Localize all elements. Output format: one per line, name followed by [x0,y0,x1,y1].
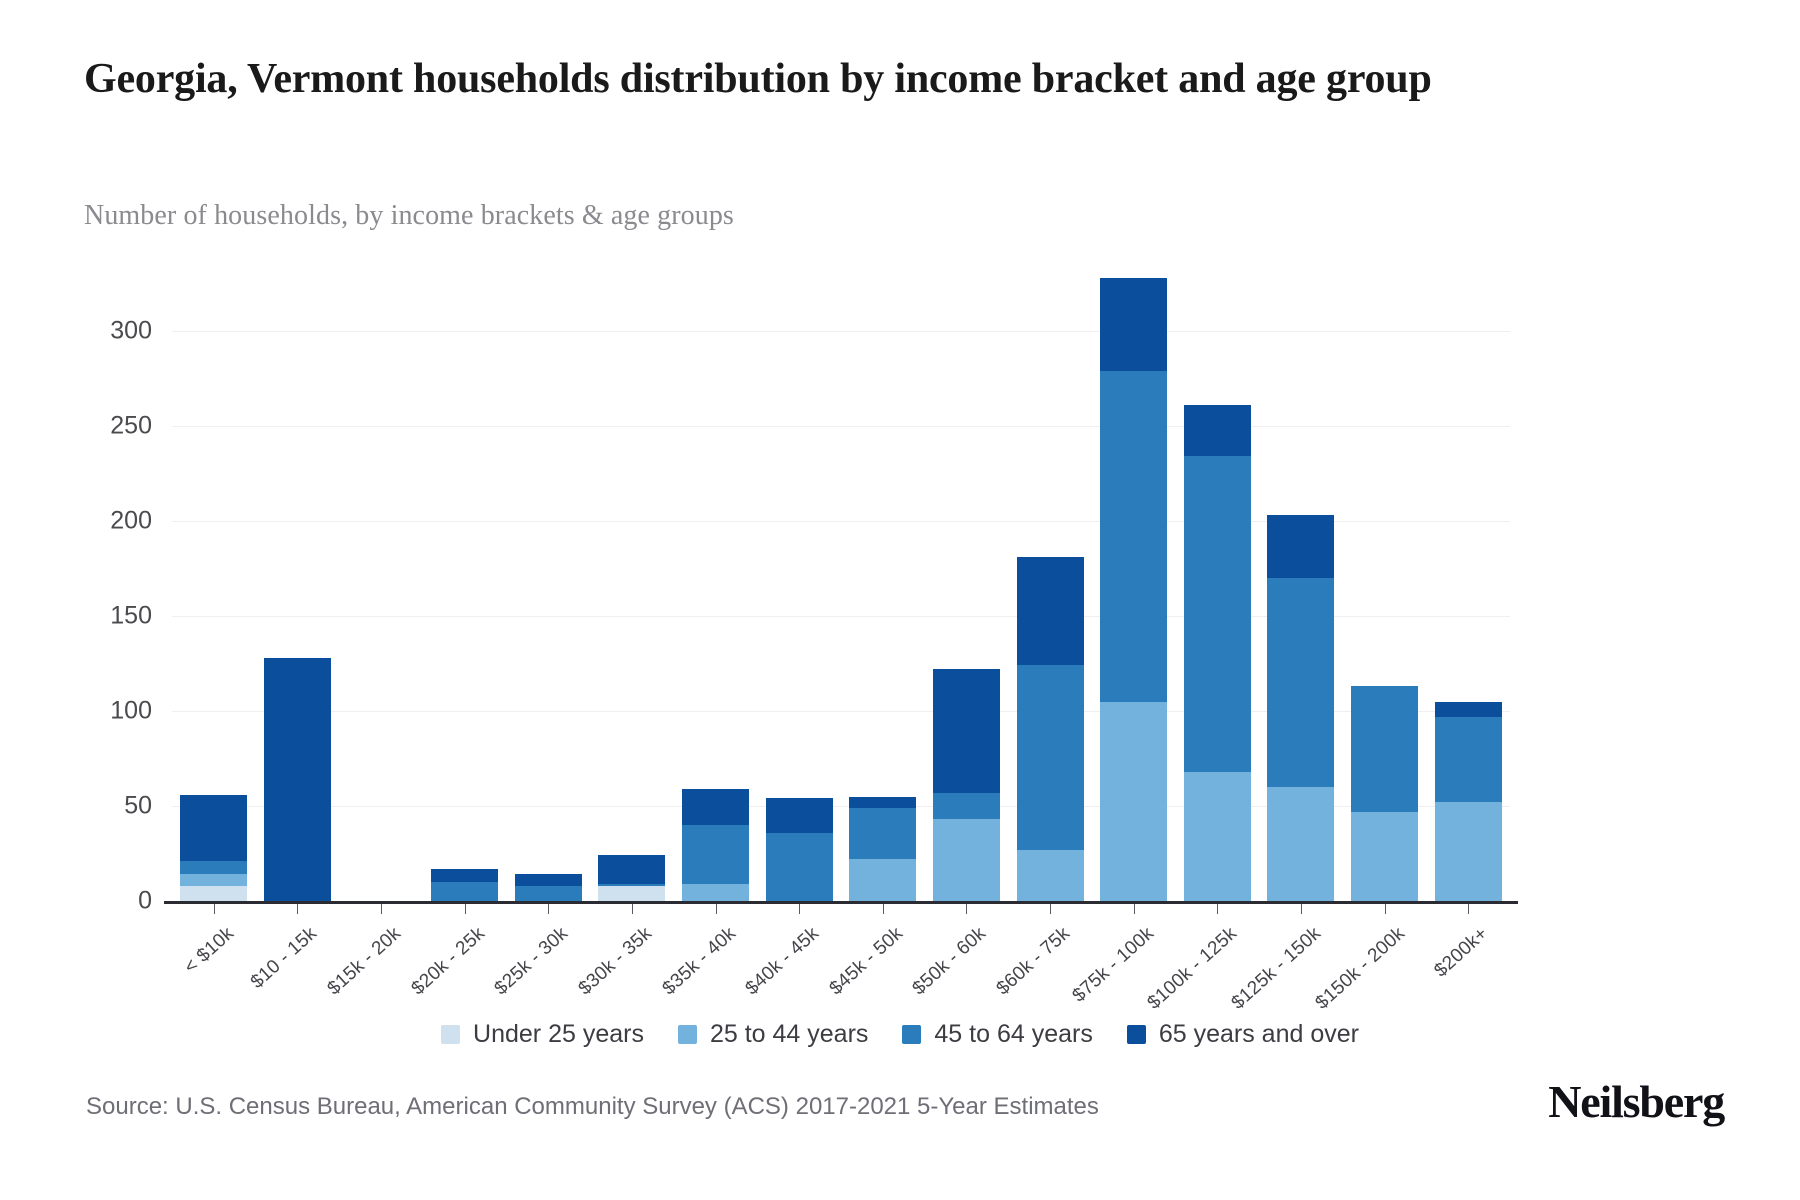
bar-stack[interactable] [682,789,749,901]
x-axis-tick-label: $50k - 60k [909,923,991,1000]
bar-segment[interactable] [1100,371,1167,702]
bar-segment[interactable] [515,886,582,901]
bar-segment[interactable] [1100,278,1167,371]
bar-segment[interactable] [180,795,247,862]
x-axis-tick [799,904,800,914]
x-axis-tick-label: $75k - 100k [1068,923,1158,1007]
y-axis-tick-label: 0 [138,887,152,916]
bar-stack[interactable] [933,669,1000,901]
legend-swatch-icon [902,1025,921,1044]
x-axis-tick-label: $125k - 150k [1228,923,1326,1014]
bar-segment[interactable] [849,808,916,859]
legend-item[interactable]: 65 years and over [1127,1020,1359,1049]
page-title: Georgia, Vermont households distribution… [84,52,1744,108]
legend-swatch-icon [441,1025,460,1044]
bar-stack[interactable] [1351,686,1418,901]
x-axis-line [164,901,1518,904]
bar-stack[interactable] [264,658,331,901]
bar-segment[interactable] [766,833,833,901]
bar-stack[interactable] [1017,557,1084,901]
x-axis-tick [966,904,967,914]
bar-segment[interactable] [933,793,1000,820]
bar-segment[interactable] [1267,578,1334,787]
bar-segment[interactable] [1017,850,1084,901]
x-axis-tick-label: $100k - 125k [1144,923,1242,1014]
bar-segment[interactable] [1267,515,1334,578]
x-axis-tick [1217,904,1218,914]
bar-segment[interactable] [1435,802,1502,901]
x-axis-tick-label: $35k - 40k [658,923,740,1000]
legend-item-label: 65 years and over [1159,1020,1359,1049]
x-axis-tick-label: $15k - 20k [324,923,406,1000]
bar-stack[interactable] [1435,702,1502,901]
legend-swatch-icon [678,1025,697,1044]
bar-stack[interactable] [515,874,582,901]
bar-segment[interactable] [766,798,833,832]
chart-page: Georgia, Vermont households distribution… [0,0,1800,1200]
bar-stack[interactable] [1267,515,1334,901]
x-axis-tick-label: $45k - 50k [825,923,907,1000]
bar-segment[interactable] [1184,456,1251,771]
bar-segment[interactable] [264,658,331,901]
bar-segment[interactable] [598,855,665,884]
bar-segment[interactable] [682,884,749,901]
x-axis-tick [1468,904,1469,914]
x-axis-tick-label: $150k - 200k [1311,923,1409,1014]
x-axis-tick [716,904,717,914]
bar-segment[interactable] [1184,772,1251,901]
bar-segment[interactable] [180,874,247,885]
x-axis-tick [632,904,633,914]
legend-item[interactable]: 45 to 64 years [902,1020,1092,1049]
x-axis-tick [1134,904,1135,914]
x-axis-tick [297,904,298,914]
bar-segment[interactable] [933,819,1000,901]
bar-segment[interactable] [1351,686,1418,811]
legend-item[interactable]: Under 25 years [441,1020,644,1049]
x-axis-tick [1385,904,1386,914]
legend-item-label: 25 to 44 years [710,1020,868,1049]
bar-segment[interactable] [849,797,916,808]
bar-stack[interactable] [598,855,665,901]
bar-stack[interactable] [766,798,833,901]
x-axis-tick [381,904,382,914]
bar-segment[interactable] [933,669,1000,793]
bar-segment[interactable] [180,886,247,901]
plot-area: 050100150200250300 < $10k$10 - 15k$15k -… [172,255,1510,901]
bar-segment[interactable] [1017,665,1084,849]
x-axis-tick [548,904,549,914]
y-axis-tick-label: 150 [110,602,152,631]
brand-logo: Neilsberg [1548,1075,1724,1128]
bar-segment[interactable] [849,859,916,901]
bar-segment[interactable] [1017,557,1084,665]
x-axis-tick-label: $30k - 35k [575,923,657,1000]
bar-segment[interactable] [180,861,247,874]
x-axis-tick-label: < $10k [180,923,238,979]
x-axis-tick [214,904,215,914]
gridline [172,331,1510,332]
y-axis-tick-label: 100 [110,697,152,726]
y-axis-tick-label: 250 [110,412,152,441]
bar-segment[interactable] [1435,717,1502,803]
bar-segment[interactable] [1184,405,1251,456]
bar-stack[interactable] [180,795,247,901]
x-axis-tick-label: $20k - 25k [407,923,489,1000]
x-axis-tick [1301,904,1302,914]
legend-item[interactable]: 25 to 44 years [678,1020,868,1049]
x-axis-tick [883,904,884,914]
bar-segment[interactable] [1435,702,1502,717]
chart-legend: Under 25 years25 to 44 years45 to 64 yea… [0,1020,1800,1049]
bar-segment[interactable] [431,869,498,882]
bar-segment[interactable] [431,882,498,901]
x-axis-tick-label: $40k - 45k [742,923,824,1000]
legend-item-label: Under 25 years [473,1020,644,1049]
bar-stack[interactable] [1184,405,1251,901]
bar-segment[interactable] [598,886,665,901]
legend-swatch-icon [1127,1025,1146,1044]
gridline [172,426,1510,427]
source-note: Source: U.S. Census Bureau, American Com… [86,1093,1099,1121]
page-subtitle: Number of households, by income brackets… [84,200,734,232]
x-axis-tick-label: $25k - 30k [491,923,573,1000]
x-axis-tick-label: $200k+ [1431,923,1493,982]
x-axis-tick-label: $10 - 15k [247,923,322,994]
y-axis-tick-label: 300 [110,317,152,346]
bar-segment[interactable] [515,874,582,885]
bar-stack[interactable] [431,869,498,901]
y-axis-tick-label: 50 [124,792,152,821]
legend-item-label: 45 to 64 years [934,1020,1092,1049]
bar-segment[interactable] [682,789,749,825]
bar-stack[interactable] [849,797,916,901]
bar-segment[interactable] [1351,812,1418,901]
x-axis-tick-label: $60k - 75k [993,923,1075,1000]
y-axis-tick-label: 200 [110,507,152,536]
bar-segment[interactable] [1100,702,1167,902]
x-axis-tick [465,904,466,914]
bar-segment[interactable] [682,825,749,884]
bar-segment[interactable] [1267,787,1334,901]
bar-stack[interactable] [1100,278,1167,901]
x-axis-tick [1050,904,1051,914]
